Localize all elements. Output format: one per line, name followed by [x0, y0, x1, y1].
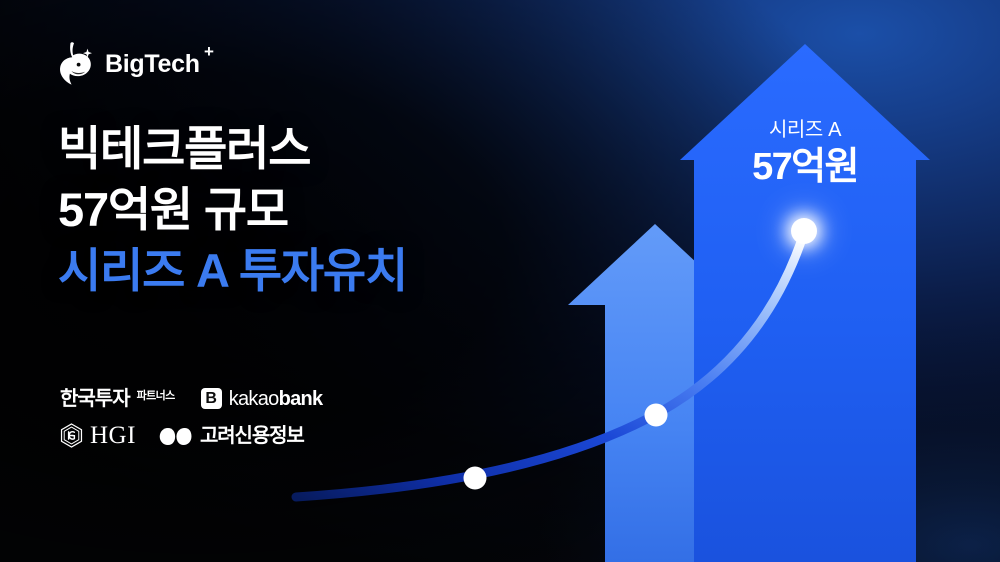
headline: 빅테크플러스 57억원 규모 시리즈 A 투자유치	[58, 118, 407, 301]
kip-sub-text: 파트너스	[137, 391, 175, 402]
investor-kakaobank: B kakaobank	[201, 388, 323, 409]
investor-hgi: HGI	[60, 423, 136, 448]
kakaobank-text-bold: bank	[279, 388, 323, 410]
investor-row-2: HGI 고려신용정보	[60, 423, 322, 448]
hgi-wordmark: HGI	[90, 423, 136, 448]
brand-name: BigTech	[105, 50, 200, 78]
koryo-two-leaf-mark-icon	[158, 427, 193, 446]
kakaobank-wordmark: kakaobank	[229, 389, 323, 409]
headline-line-1: 빅테크플러스	[58, 118, 407, 179]
kip-main-text: 한국투자	[60, 389, 130, 409]
brand-plus-icon: +	[204, 43, 214, 60]
investor-row-1: 한국투자 파트너스 B kakaobank	[60, 388, 322, 409]
curve-dot-2	[645, 404, 668, 427]
series-a-callout: 시리즈 A 57억원	[702, 118, 908, 190]
callout-amount: 57억원	[702, 146, 908, 190]
curve-dot-3	[791, 218, 817, 244]
brand-logo: BigTech +	[56, 40, 200, 88]
investor-logos: 한국투자 파트너스 B kakaobank HGI	[60, 388, 322, 448]
callout-caption: 시리즈 A	[702, 118, 908, 143]
headline-line-3: 시리즈 A 투자유치	[58, 240, 407, 301]
promo-banner: BigTech + 빅테크플러스 57억원 규모 시리즈 A 투자유치 한국투자…	[0, 0, 1000, 562]
investor-korea-investment-partners: 한국투자 파트너스	[60, 389, 175, 409]
kakaobank-b-mark-icon: B	[201, 388, 222, 409]
whale-icon	[56, 40, 96, 88]
headline-line-2: 57억원 규모	[58, 179, 407, 240]
koryo-wordmark: 고려신용정보	[200, 426, 304, 446]
brand-wordmark: BigTech +	[105, 52, 200, 77]
curve-dot-1	[464, 467, 487, 490]
investor-koryo-credit-information: 고려신용정보	[158, 426, 304, 446]
kakaobank-text-light: kakao	[229, 388, 279, 410]
hgi-hexagon-mark-icon	[60, 423, 83, 448]
